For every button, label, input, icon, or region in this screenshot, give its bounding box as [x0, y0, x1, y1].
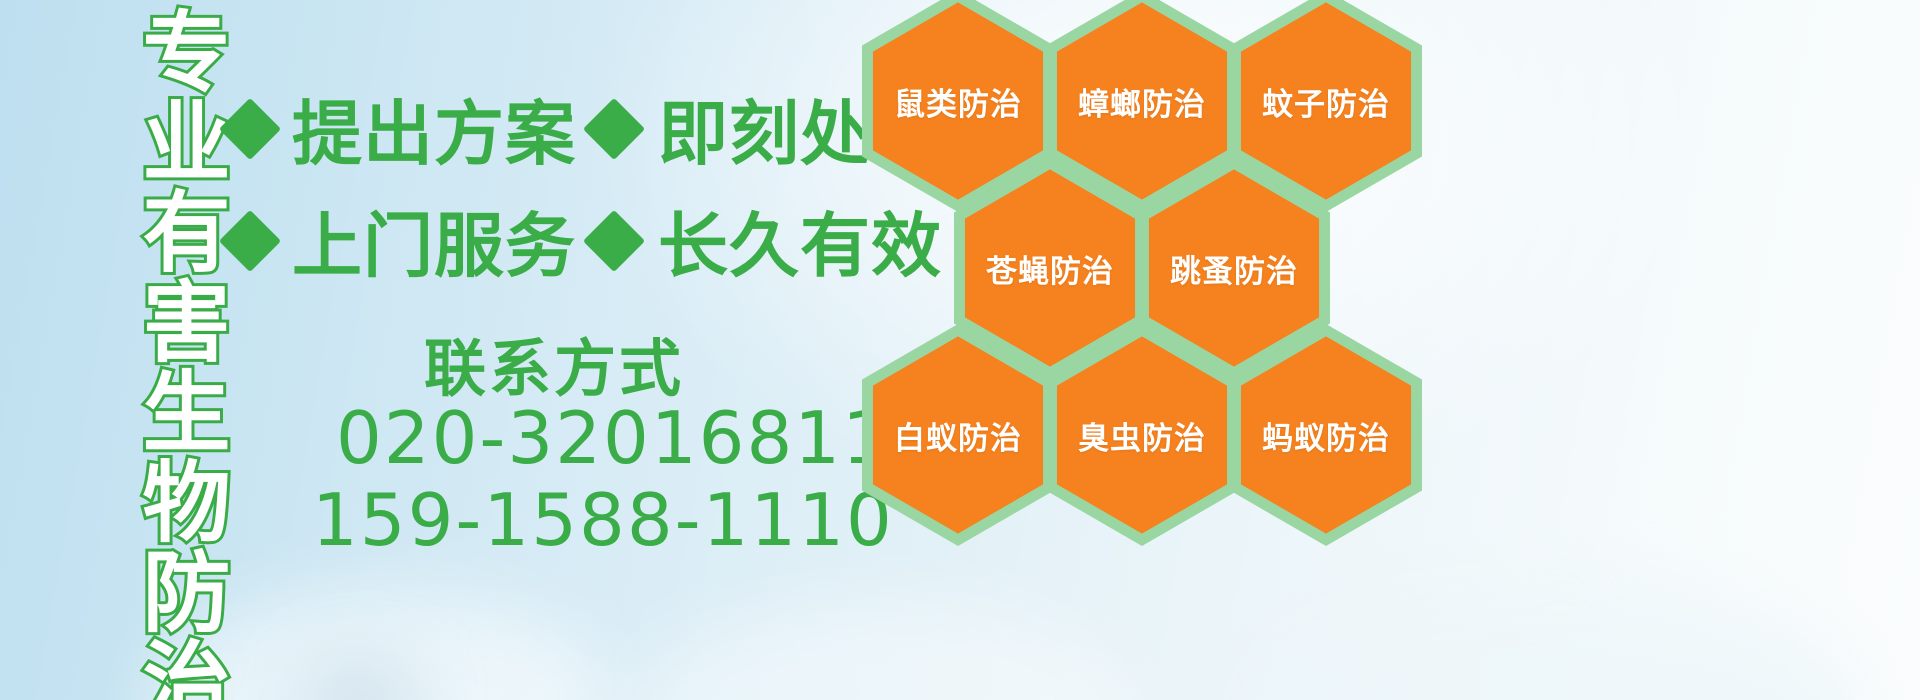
pest-control-banner: 专业有害生物防治服务 提出方案 即刻处理 上门服务 长久有效 联系方式 020-…: [0, 0, 1920, 700]
hex-label: 蟑螂防治: [1078, 79, 1206, 124]
hex-cell-ant-control[interactable]: 蚂蚁防治: [1230, 324, 1422, 546]
contact-heading: 联系方式: [424, 318, 684, 408]
diamond-bullet-icon: [219, 97, 281, 159]
hex-label: 跳蚤防治: [1170, 246, 1298, 291]
background-blur-blob: [300, 660, 420, 700]
vertical-headline: 专业有害生物防治服务: [100, 6, 224, 700]
hex-label: 鼠类防治: [894, 79, 1022, 124]
background-blur-blob: [1250, 590, 1870, 700]
feature-label-onsite-service: 上门服务: [292, 190, 576, 291]
hex-label: 臭虫防治: [1078, 413, 1206, 458]
feature-label-propose-plan: 提出方案: [292, 78, 576, 179]
feature-row-2: 上门服务 长久有效: [228, 190, 958, 291]
feature-row-1: 提出方案 即刻处理: [228, 78, 958, 179]
contact-phone-mobile[interactable]: 159-1588-1110: [312, 478, 894, 562]
service-honeycomb: 鼠类防治 蟑螂防治 蚊子防治 苍蝇防治 跳蚤防治 白蚁防治: [852, 0, 1492, 562]
diamond-bullet-icon: [583, 97, 645, 159]
background-blur-blob: [620, 600, 1140, 700]
hex-cell-termite-control[interactable]: 白蚁防治: [862, 324, 1054, 546]
diamond-bullet-icon: [583, 209, 645, 271]
hex-cell-bedbug-control[interactable]: 臭虫防治: [1046, 324, 1238, 546]
hex-label: 苍蝇防治: [986, 246, 1114, 291]
hex-label: 蚊子防治: [1262, 79, 1390, 124]
diamond-bullet-icon: [219, 209, 281, 271]
hex-label: 蚂蚁防治: [1262, 413, 1390, 458]
contact-phone-landline[interactable]: 020-32016811: [336, 396, 890, 480]
hex-label: 白蚁防治: [894, 413, 1022, 458]
